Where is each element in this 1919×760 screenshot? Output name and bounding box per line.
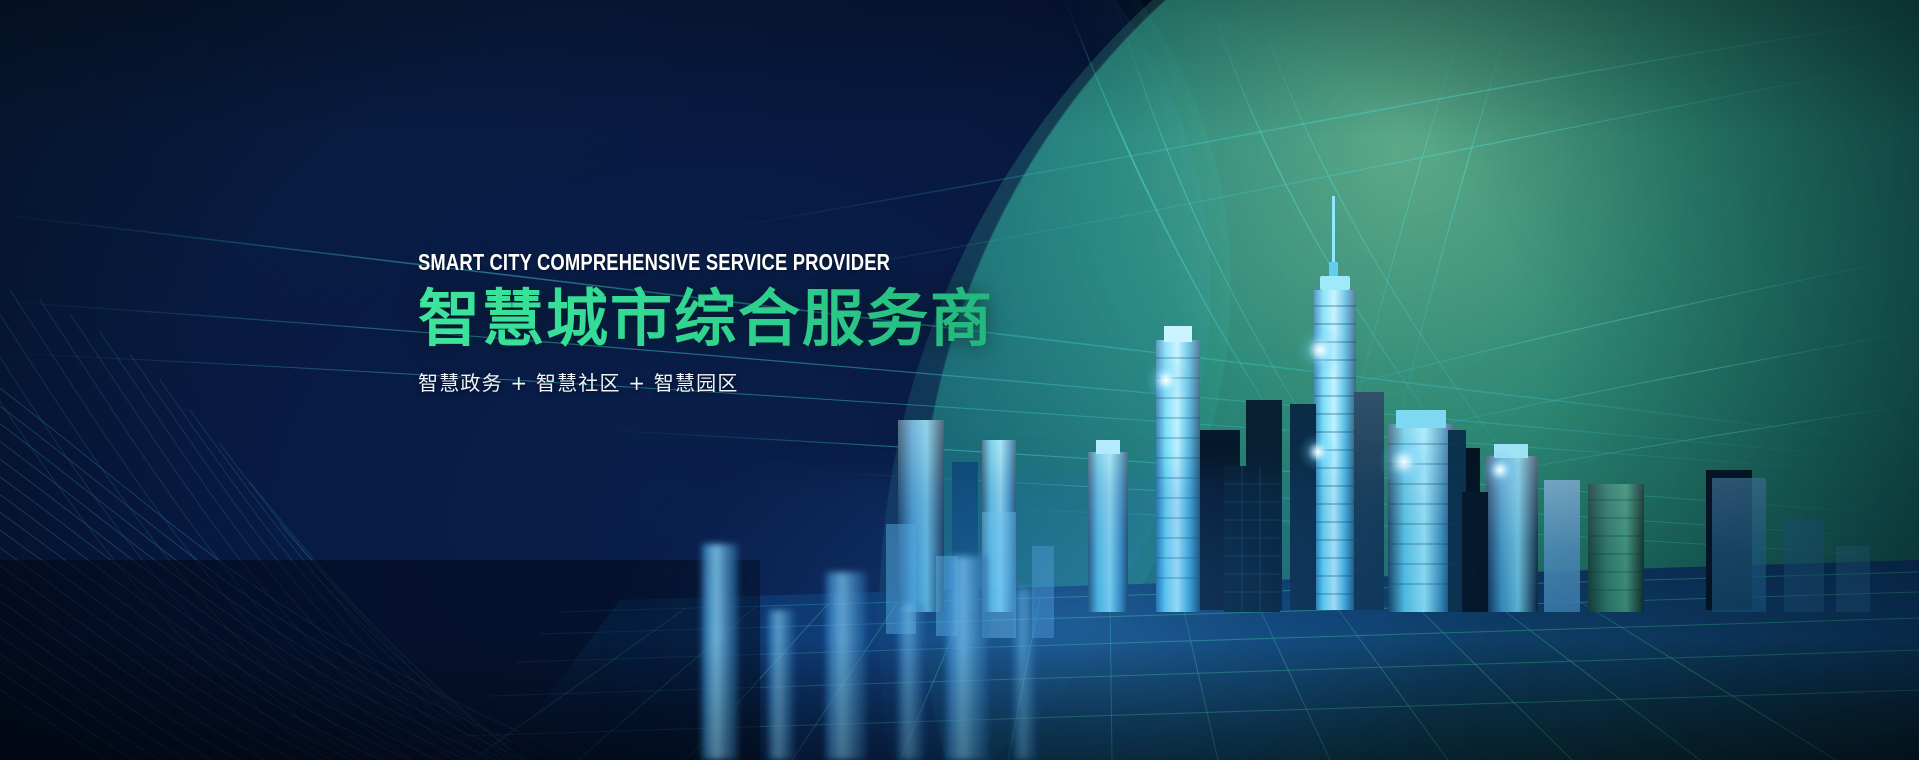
page-title: 智慧城市综合服务商	[418, 286, 1178, 353]
sub-headline: 智慧政务 + 智慧社区 + 智慧园区	[418, 367, 1178, 396]
smart-city-banner: SMART CITY COMPREHENSIVE SERVICE PROVIDE…	[0, 0, 1919, 760]
headline-copy-block: SMART CITY COMPREHENSIVE SERVICE PROVIDE…	[418, 250, 1178, 396]
english-tagline: SMART CITY COMPREHENSIVE SERVICE PROVIDE…	[418, 250, 1026, 274]
ground-glow	[620, 470, 1520, 760]
